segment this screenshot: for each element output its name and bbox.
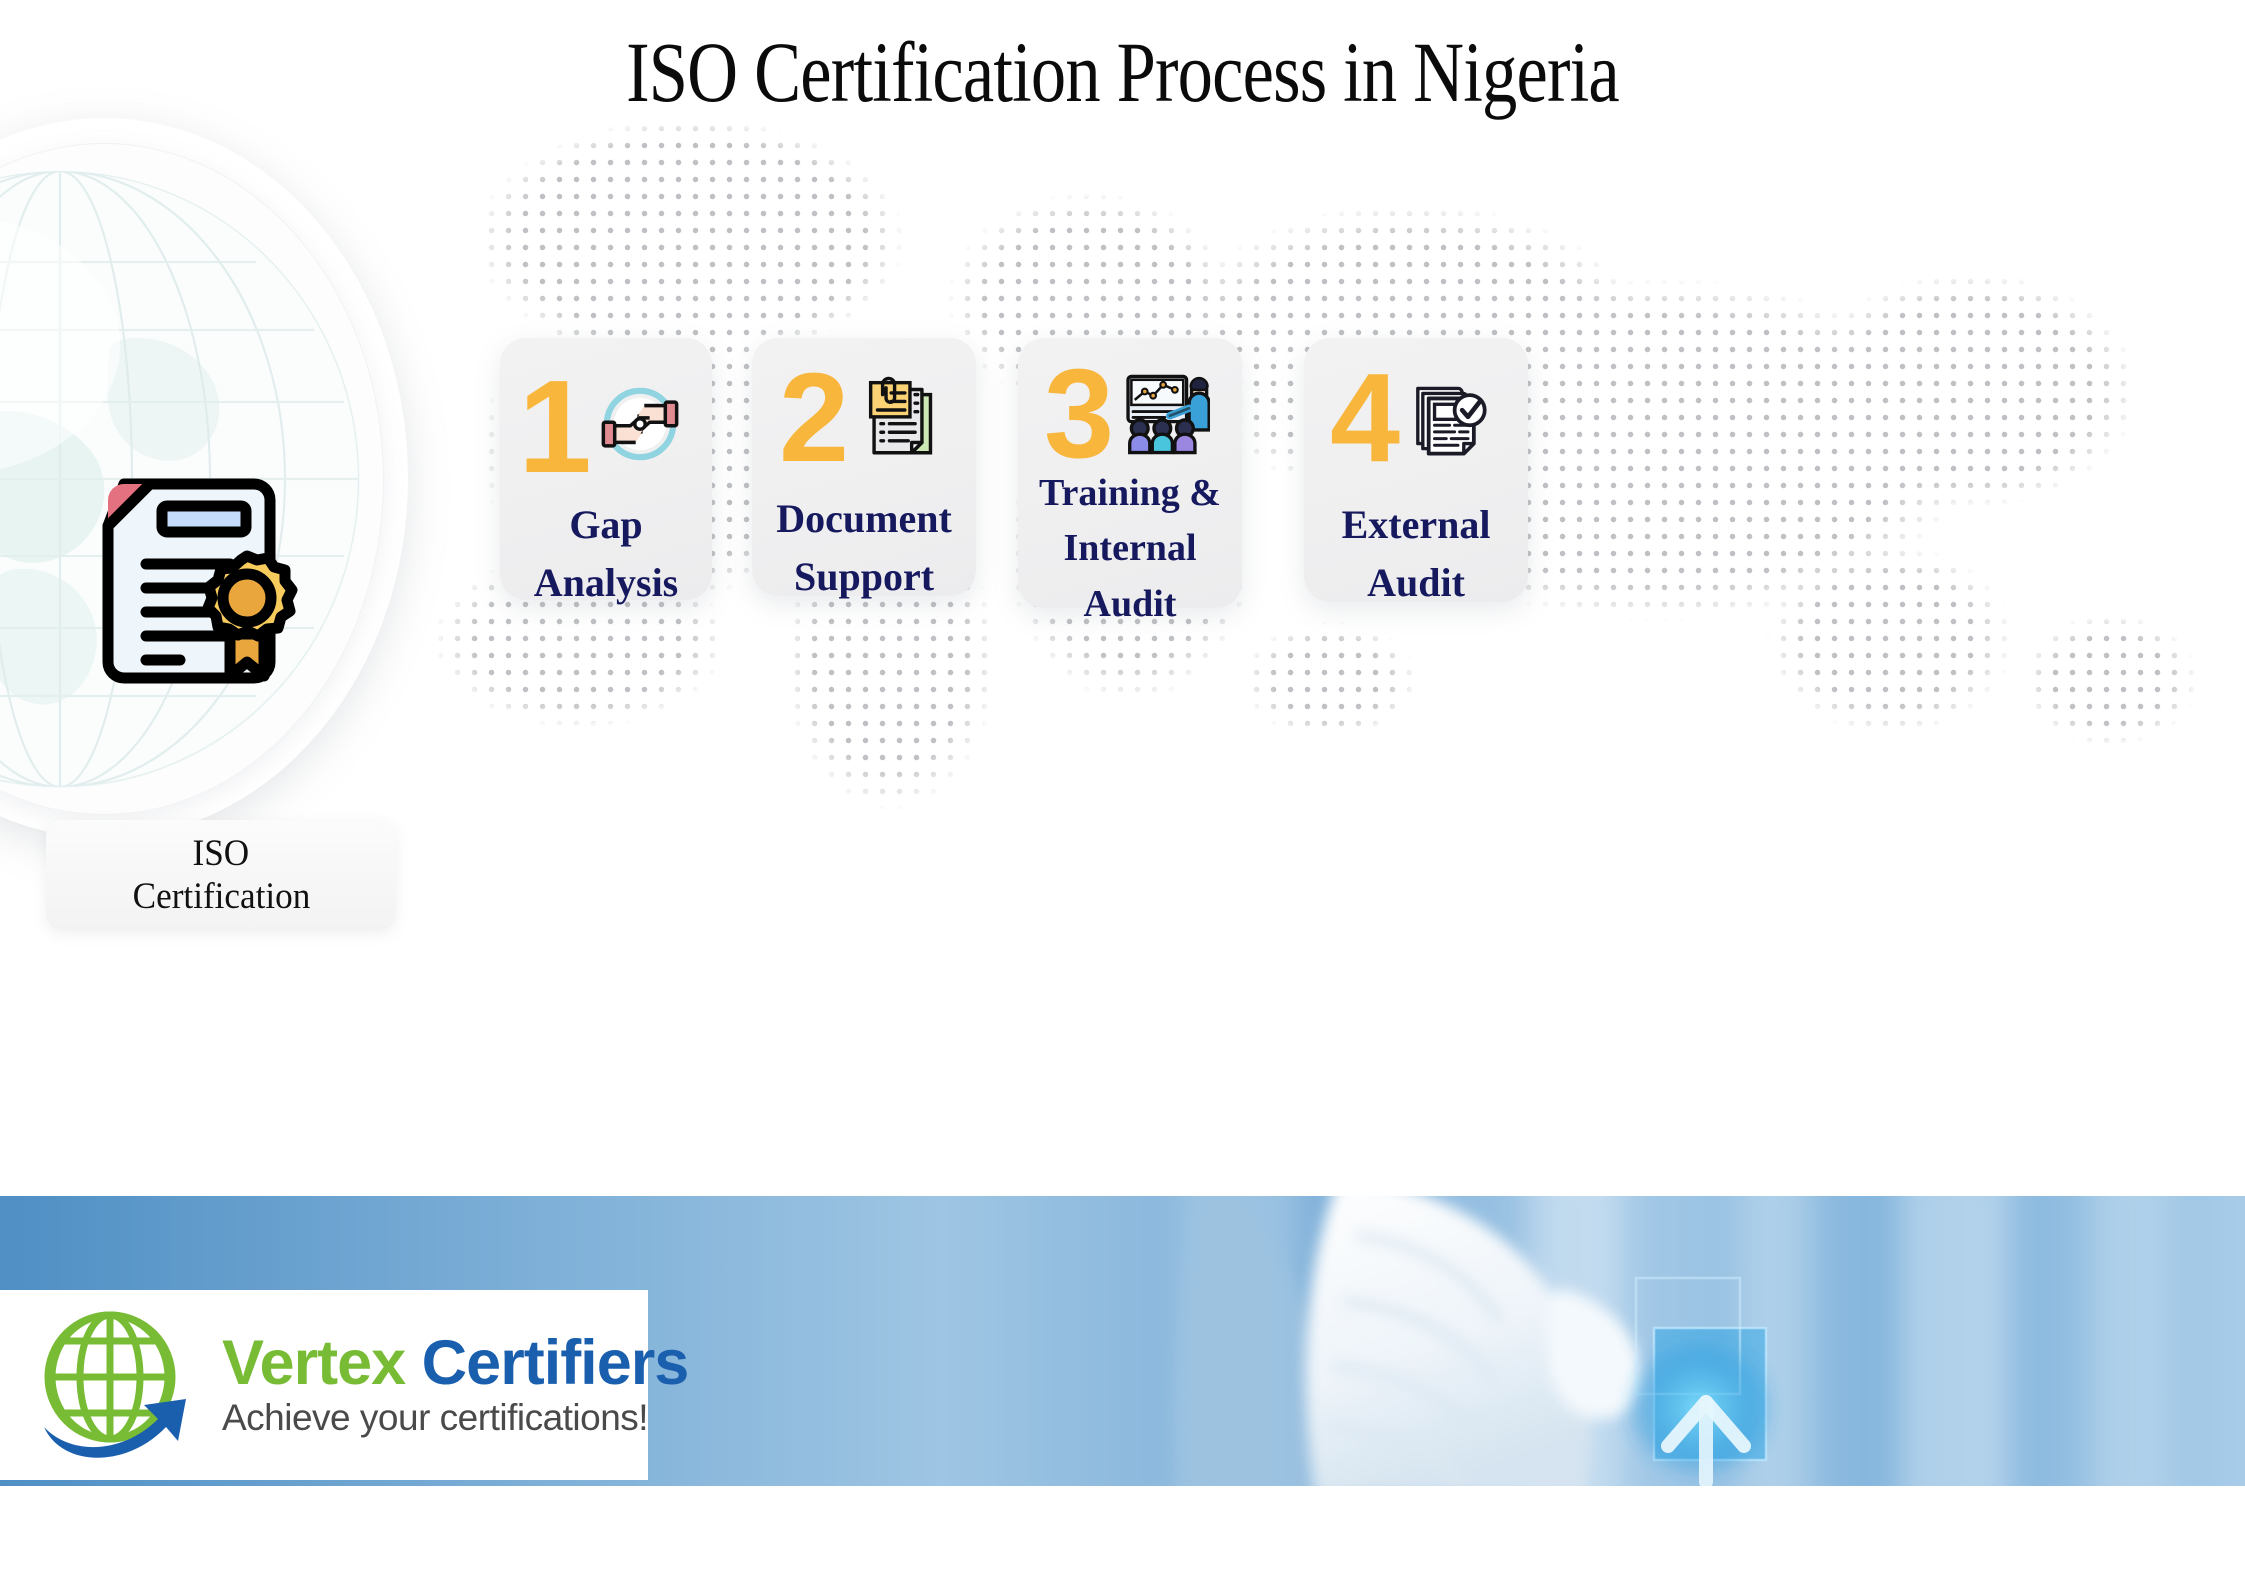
step-3-label-line1: Training & <box>1018 466 1242 521</box>
step-4-number: 4 <box>1330 364 1396 472</box>
step-2-label: Document Support <box>752 490 976 607</box>
brand-name-first: Vertex <box>222 1328 405 1398</box>
step-2-label-line1: Document <box>752 490 976 548</box>
logo-wordmark: Vertex Certifiers Achieve your certifica… <box>222 1331 688 1439</box>
step-1-label-line1: Gap <box>500 496 712 554</box>
step-3-label-line2: Internal <box>1018 521 1242 576</box>
iso-certification-label: ISO Certification <box>46 820 396 930</box>
step-3-label: Training & Internal Audit <box>1018 466 1242 632</box>
brand-name: Vertex Certifiers <box>222 1331 688 1395</box>
brand-tagline: Achieve your certifications! <box>222 1397 688 1439</box>
step-1-number: 1 <box>518 370 587 484</box>
document-clipboard-icon <box>855 369 941 468</box>
step-1-label-line2: Analysis <box>500 554 712 612</box>
brand-logo[interactable]: Vertex Certifiers Achieve your certifica… <box>0 1290 648 1480</box>
step-2-label-line2: Support <box>752 548 976 606</box>
step-2-number: 2 <box>779 364 845 472</box>
iso-certificate-document-icon <box>58 448 298 698</box>
infographic-canvas: ISO Certification Process in Nigeria <box>0 0 2245 1587</box>
page-title: ISO Certification Process in Nigeria <box>202 22 2043 122</box>
brand-name-second: Certifiers <box>422 1328 689 1398</box>
audit-documents-check-icon <box>1406 370 1494 467</box>
step-1-label: Gap Analysis <box>500 496 712 613</box>
step-card-3[interactable]: 3 <box>1018 338 1242 608</box>
handshake-globe-icon <box>592 376 688 477</box>
step-card-1[interactable]: 1 Gap Analysis <box>500 338 712 600</box>
step-card-2[interactable]: 2 <box>752 338 976 596</box>
step-4-label: External Audit <box>1304 496 1528 613</box>
step-3-label-line3: Audit <box>1018 577 1242 632</box>
training-presentation-icon <box>1118 368 1210 461</box>
step-4-label-line2: Audit <box>1304 554 1528 612</box>
vertex-globe-arrow-logo <box>26 1305 202 1465</box>
step-3-number: 3 <box>1044 360 1110 468</box>
step-4-label-line1: External <box>1304 496 1528 554</box>
step-card-4[interactable]: 4 <box>1304 338 1528 602</box>
iso-label-line2: Certification <box>132 876 310 917</box>
iso-label-line1: ISO <box>193 833 250 874</box>
